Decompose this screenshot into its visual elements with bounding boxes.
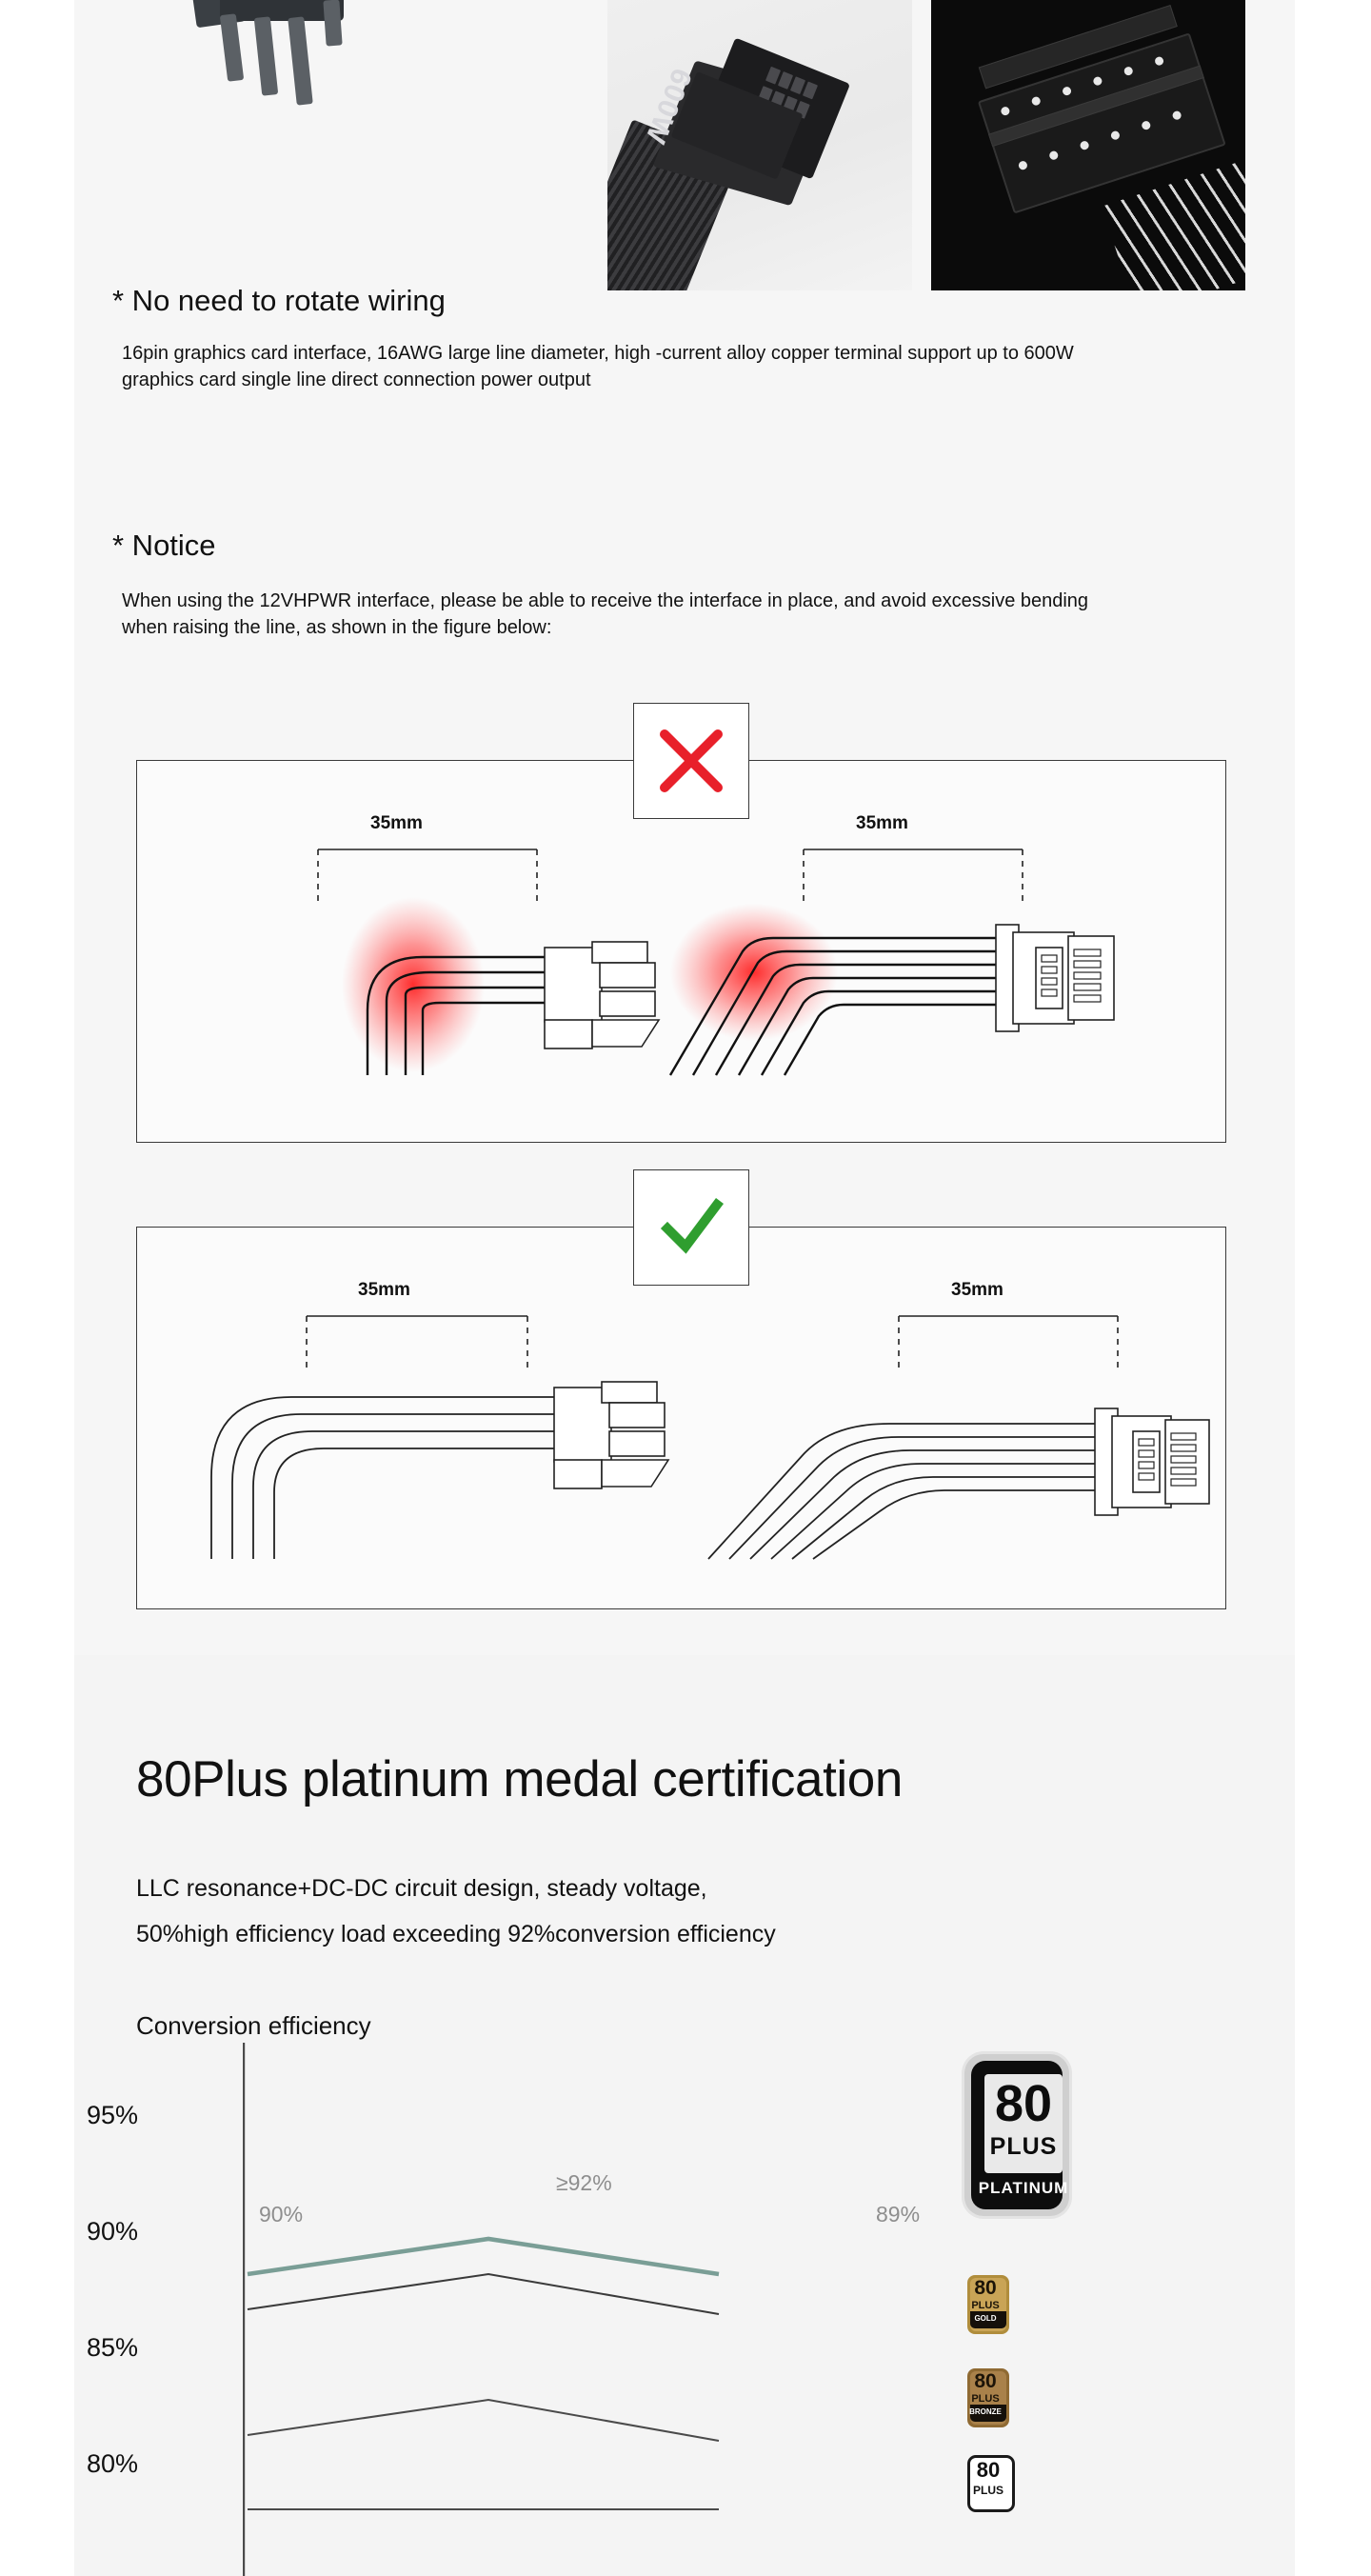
photo-plug-prongs (74, 0, 607, 286)
page-title-80plus-certification: 80Plus platinum medal certification (136, 1750, 903, 1808)
badge-gold-plus-text: PLUS (967, 2300, 1003, 2311)
cross-icon (656, 726, 726, 796)
text-80plus-subtitle-line1: LLC resonance+DC-DC circuit design, stea… (136, 1871, 707, 1906)
text-80plus-subtitle-line2: 50%high efficiency load exceeding 92%con… (136, 1917, 776, 1951)
badge-bronze-plus-text: PLUS (967, 2393, 1003, 2405)
chart-title-conversion-efficiency: Conversion efficiency (136, 2011, 371, 2041)
plug-prongs-illustration (193, 0, 374, 105)
text-notice-description: When using the 12VHPWR interface, please… (122, 589, 1131, 641)
series-line-gold (248, 2274, 719, 2314)
badge-standard-80-text: 80 (970, 2460, 1006, 2481)
heading-no-need-to-rotate-wiring: * No need to rotate wiring (112, 284, 446, 318)
text-wiring-description: 16pin graphics card interface, 16AWG lar… (122, 341, 1131, 393)
badge-bronze-80-text: 80 (967, 2371, 1003, 2391)
incorrect-mark-badge (633, 703, 749, 819)
badge-80plus-platinum: 80 PLUS PLATINUM (964, 2054, 1069, 2216)
badge-80plus-gold: 80 PLUS GOLD (967, 2275, 1009, 2334)
badge-gold-tier-text: GOLD (967, 2314, 1003, 2323)
cable-connector-illustration: 600W (607, 24, 912, 290)
badge-80plus-bronze: 80 PLUS BRONZE (967, 2368, 1009, 2427)
y-axis-tick-90: 90% (52, 2217, 138, 2247)
y-axis-tick-85: 85% (52, 2333, 138, 2363)
product-photo-strip: 600W (0, 0, 1371, 290)
check-icon (654, 1190, 728, 1265)
badge-bronze-tier-text: BRONZE (967, 2407, 1003, 2416)
photo-600w-connector: 600W (607, 0, 912, 290)
badge-80plus-standard: 80 PLUS (967, 2455, 1015, 2512)
series-line-platinum (248, 2239, 719, 2274)
product-detail-page: 600W * No need to rotate wiring 16pin g (0, 0, 1371, 2576)
header-connector-illustration (931, 0, 1245, 290)
correct-mark-badge (633, 1169, 749, 1286)
badge-standard-plus-text: PLUS (970, 2484, 1006, 2497)
badge-gold-80-text: 80 (967, 2278, 1003, 2298)
badge-platinum-plus-text: PLUS (984, 2133, 1063, 2161)
badge-platinum-80-text: 80 (984, 2078, 1063, 2129)
efficiency-line-chart-plot (243, 2043, 1033, 2576)
series-line-bronze (248, 2400, 719, 2441)
photo-16pin-header (931, 0, 1245, 290)
y-axis-tick-80: 80% (52, 2449, 138, 2479)
badge-platinum-tier-text: PLATINUM (978, 2179, 1069, 2198)
heading-notice: * Notice (112, 529, 216, 563)
y-axis-tick-95: 95% (52, 2101, 138, 2130)
